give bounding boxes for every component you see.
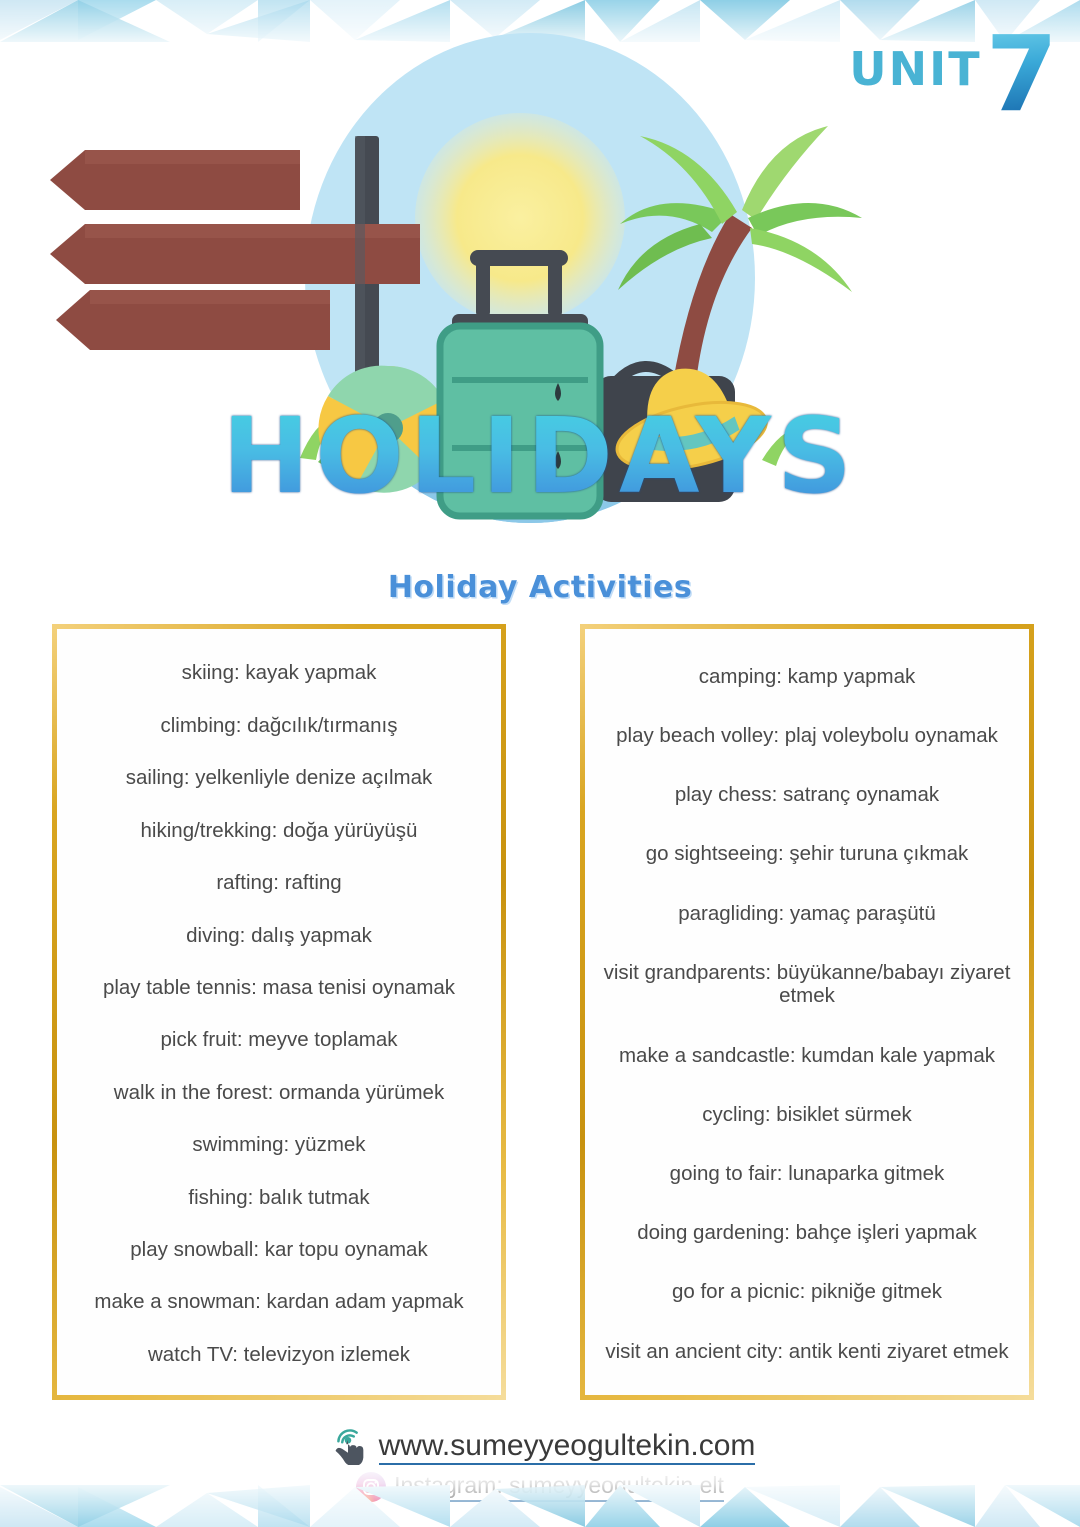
worksheet-page: UNIT 7 HOLIDAYS Holiday Activities skiin… [0, 0, 1080, 1527]
vocabulary-item: diving: dalış yapmak [67, 923, 491, 949]
footer: www.sumeyyeogultekin.com [0, 1424, 1080, 1502]
vocabulary-item: make a snowman: kardan adam yapmak [67, 1289, 491, 1315]
vocabulary-item: fishing: balık tutmak [67, 1185, 491, 1211]
vocabulary-item: hiking/trekking: doğa yürüyüşü [67, 818, 491, 844]
website-line[interactable]: www.sumeyyeogultekin.com [325, 1424, 756, 1470]
vocabulary-columns: skiing: kayak yapmakclimbing: dağcılık/t… [52, 624, 1034, 1400]
vocabulary-item: swimming: yüzmek [67, 1132, 491, 1158]
instagram-icon [356, 1472, 386, 1502]
unit-label: UNIT [849, 46, 981, 92]
page-subtitle: Holiday Activities [0, 570, 1080, 605]
unit-badge: UNIT 7 [849, 22, 1058, 126]
left-word-box: skiing: kayak yapmakclimbing: dağcılık/t… [52, 624, 506, 1400]
unit-number: 7 [986, 22, 1058, 126]
vocabulary-item: rafting: rafting [67, 870, 491, 896]
right-word-box: camping: kamp yapmakplay beach volley: p… [580, 624, 1034, 1400]
vocabulary-item: walk in the forest: ormanda yürümek [67, 1080, 491, 1106]
page-title: HOLIDAYS [0, 404, 1080, 508]
vocabulary-item: cycling: bisiklet sürmek [595, 1102, 1019, 1128]
tap-hand-icon [325, 1424, 371, 1470]
vocabulary-item: camping: kamp yapmak [595, 664, 1019, 690]
vocabulary-item: paragliding: yamaç paraşütü [595, 901, 1019, 927]
vocabulary-item: going to fair: lunaparka gitmek [595, 1161, 1019, 1187]
vocabulary-item: sailing: yelkenliyle denize açılmak [67, 765, 491, 791]
vocabulary-item: go sightseeing: şehir turuna çıkmak [595, 841, 1019, 867]
vocabulary-item: skiing: kayak yapmak [67, 660, 491, 686]
vocabulary-item: go for a picnic: pikniğe gitmek [595, 1279, 1019, 1305]
vocabulary-item: make a sandcastle: kumdan kale yapmak [595, 1043, 1019, 1069]
sun-icon [415, 113, 625, 323]
vocabulary-item: play chess: satranç oynamak [595, 782, 1019, 808]
instagram-line[interactable]: Instagram: sumeyyeogultekin.elt [356, 1472, 724, 1502]
vocabulary-item: pick fruit: meyve toplamak [67, 1027, 491, 1053]
vocabulary-item: watch TV: televizyon izlemek [67, 1342, 491, 1368]
website-link[interactable]: www.sumeyyeogultekin.com [379, 1429, 756, 1465]
vocabulary-item: play snowball: kar topu oynamak [67, 1237, 491, 1263]
instagram-handle[interactable]: Instagram: sumeyyeogultekin.elt [394, 1472, 724, 1501]
vocabulary-item: doing gardening: bahçe işleri yapmak [595, 1220, 1019, 1246]
vocabulary-item: play beach volley: plaj voleybolu oynama… [595, 723, 1019, 749]
vocabulary-item: play table tennis: masa tenisi oynamak [67, 975, 491, 1001]
vocabulary-item: climbing: dağcılık/tırmanış [67, 713, 491, 739]
vocabulary-item: visit grandparents: büyükanne/babayı ziy… [595, 960, 1019, 1009]
vocabulary-item: visit an ancient city: antik kenti ziyar… [595, 1339, 1019, 1365]
